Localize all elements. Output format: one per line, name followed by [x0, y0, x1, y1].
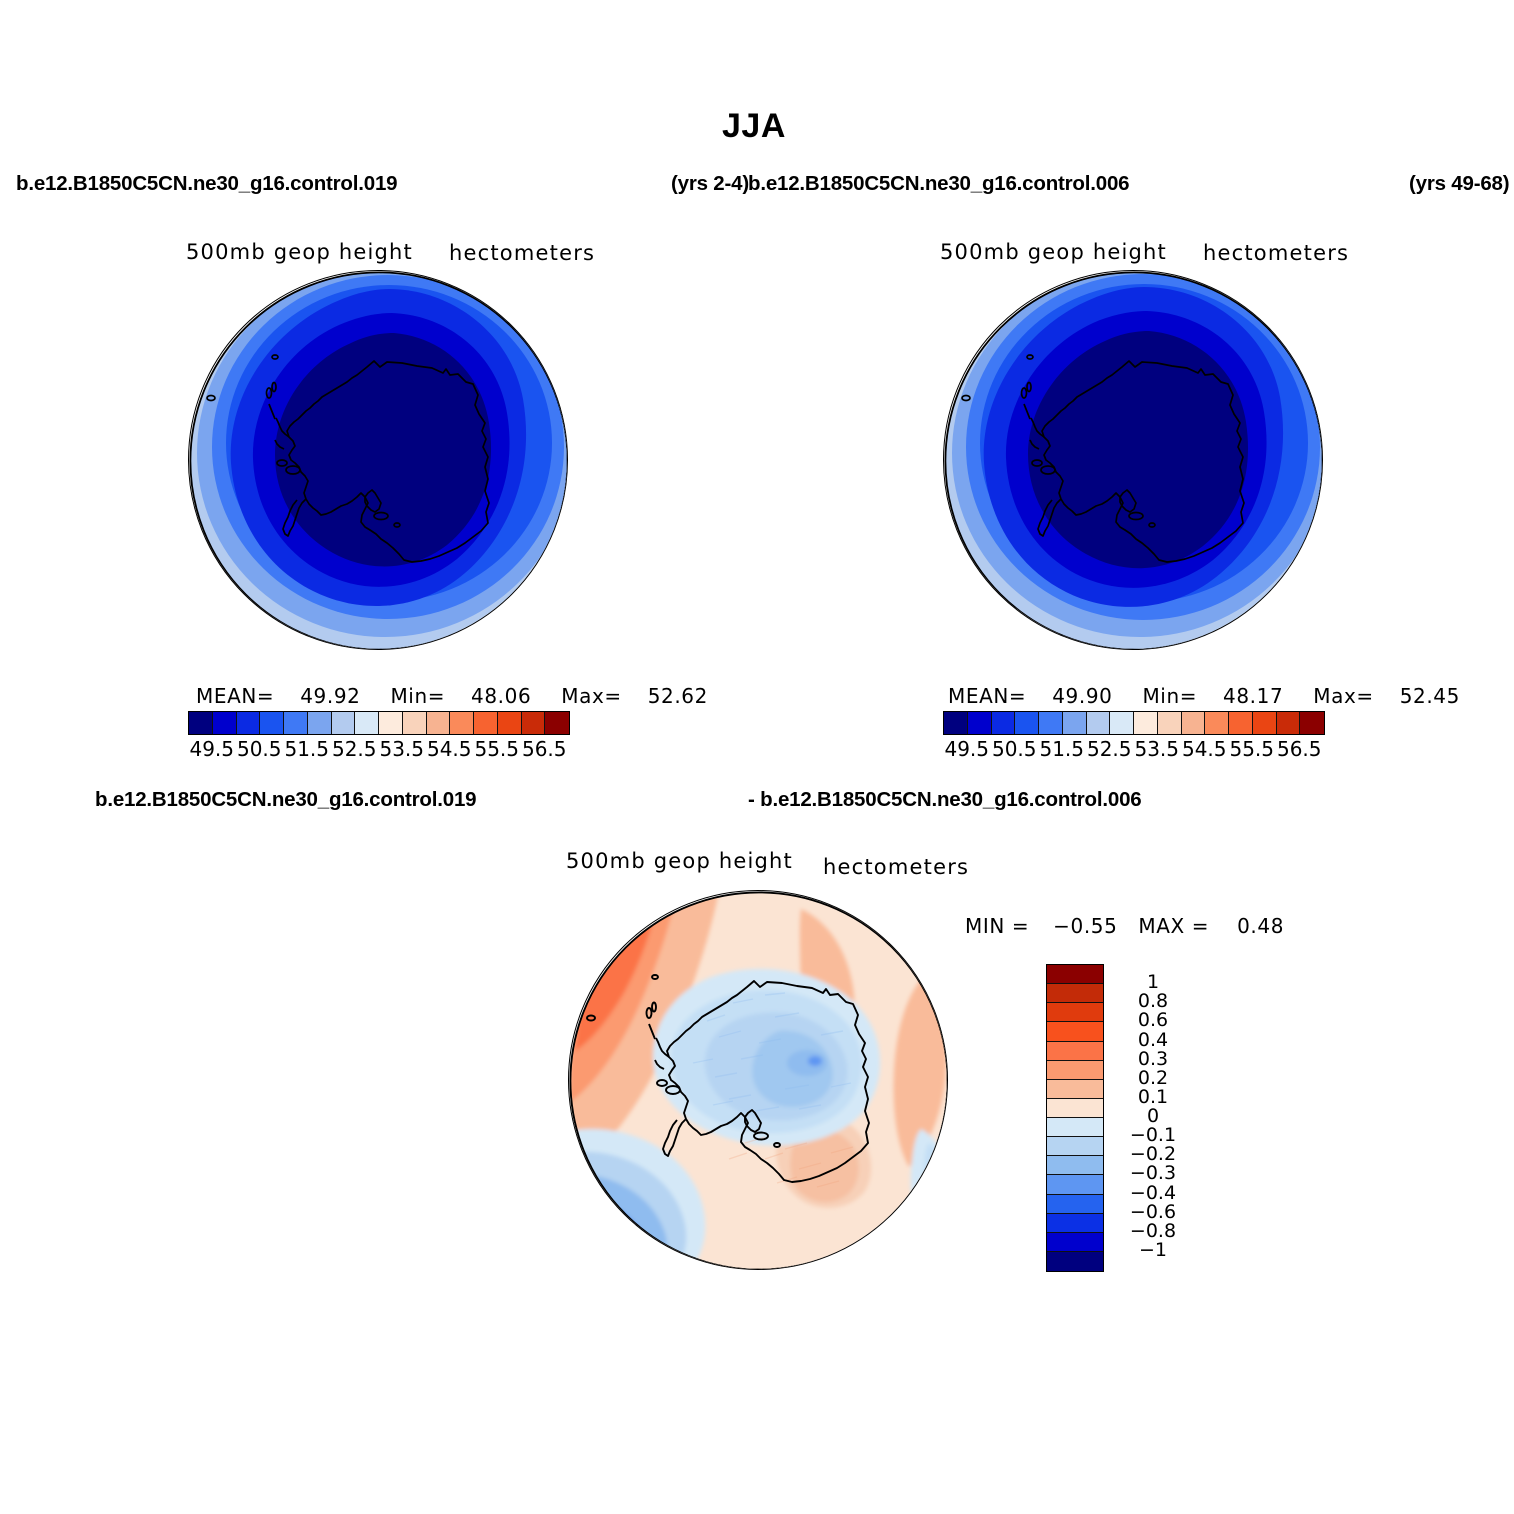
map-left-svg [189, 271, 568, 650]
left-max-value: 52.62 [648, 684, 708, 708]
colorbar-swatch-6 [1087, 712, 1111, 734]
left-max-label: Max= [561, 684, 622, 708]
difference-max-value: 0.48 [1237, 914, 1284, 938]
difference-stats: MIN = −0.55 MAX = 0.48 [965, 914, 1284, 938]
right-max-label: Max= [1313, 684, 1374, 708]
difference-colorbar-swatch-12 [1047, 1195, 1103, 1214]
colorbar-swatch-9 [403, 712, 427, 734]
left-mean-value: 49.92 [300, 684, 360, 708]
difference-colorbar-swatch-2 [1047, 1003, 1103, 1022]
right-mean-label: MEAN= [948, 684, 1026, 708]
colorbar-swatch-10 [427, 712, 451, 734]
colorbar-swatch-12 [474, 712, 498, 734]
left-panel-variable-label: 500mb geop height [186, 240, 413, 264]
colorbar-swatch-8 [1134, 712, 1158, 734]
left-panel-case-name: b.e12.B1850C5CN.ne30_g16.control.019 [16, 172, 397, 196]
colorbar-tick-7: 56.5 [514, 737, 574, 761]
colorbar-swatch-2 [237, 712, 261, 734]
colorbar-swatch-7 [1110, 712, 1134, 734]
left-panel-colorbar[interactable] [188, 711, 570, 735]
difference-colorbar-tick-14: −1 [1118, 1239, 1188, 1261]
left-min-label: Min= [390, 684, 445, 708]
left-panel-years: (yrs 2-4) [671, 172, 749, 196]
figure-season-title: JJA [722, 107, 786, 146]
colorbar-swatch-9 [1158, 712, 1182, 734]
colorbar-swatch-1 [968, 712, 992, 734]
right-min-label: Min= [1142, 684, 1197, 708]
difference-colorbar-swatch-9 [1047, 1137, 1103, 1156]
left-min-value: 48.06 [471, 684, 531, 708]
difference-min-value: −0.55 [1053, 914, 1117, 938]
colorbar-swatch-3 [260, 712, 284, 734]
difference-units-label: hectometers [823, 855, 969, 879]
difference-colorbar-swatch-10 [1047, 1156, 1103, 1175]
colorbar-swatch-3 [1015, 712, 1039, 734]
right-panel-stats: MEAN= 49.90 Min= 48.17 Max= 52.45 [948, 684, 1460, 708]
left-mean-label: MEAN= [196, 684, 274, 708]
colorbar-swatch-15 [545, 712, 569, 734]
difference-colorbar-swatch-13 [1047, 1214, 1103, 1233]
colorbar-swatch-13 [498, 712, 522, 734]
map-right-svg [944, 271, 1323, 650]
right-mean-value: 49.90 [1052, 684, 1112, 708]
difference-colorbar-swatch-4 [1047, 1042, 1103, 1061]
colorbar-swatch-6 [332, 712, 356, 734]
right-panel-variable-label: 500mb geop height [940, 240, 1167, 264]
map-left-control019[interactable] [188, 270, 568, 650]
colorbar-swatch-0 [944, 712, 968, 734]
left-panel-stats: MEAN= 49.92 Min= 48.06 Max= 52.62 [196, 684, 708, 708]
colorbar-swatch-5 [1063, 712, 1087, 734]
left-panel-units-label: hectometers [449, 241, 595, 265]
difference-colorbar-swatch-3 [1047, 1022, 1103, 1041]
colorbar-swatch-0 [189, 712, 213, 734]
difference-colorbar[interactable] [1046, 964, 1104, 1272]
colorbar-swatch-4 [284, 712, 308, 734]
colorbar-swatch-15 [1300, 712, 1324, 734]
right-max-value: 52.45 [1400, 684, 1460, 708]
difference-colorbar-swatch-6 [1047, 1080, 1103, 1099]
right-panel-colorbar[interactable] [943, 711, 1325, 735]
colorbar-swatch-14 [522, 712, 546, 734]
colorbar-swatch-2 [992, 712, 1016, 734]
difference-colorbar-swatch-1 [1047, 984, 1103, 1003]
difference-colorbar-swatch-14 [1047, 1233, 1103, 1252]
colorbar-swatch-5 [308, 712, 332, 734]
colorbar-swatch-12 [1229, 712, 1253, 734]
colorbar-swatch-8 [379, 712, 403, 734]
colorbar-swatch-11 [450, 712, 474, 734]
right-panel-years: (yrs 49-68) [1409, 172, 1509, 196]
map-difference-svg [569, 891, 948, 1270]
difference-colorbar-swatch-7 [1047, 1099, 1103, 1118]
difference-minus-case-b: - b.e12.B1850C5CN.ne30_g16.control.006 [748, 788, 1141, 812]
difference-colorbar-swatch-11 [1047, 1175, 1103, 1194]
map-difference[interactable] [568, 890, 948, 1270]
colorbar-swatch-14 [1277, 712, 1301, 734]
colorbar-swatch-10 [1182, 712, 1206, 734]
colorbar-swatch-1 [213, 712, 237, 734]
difference-colorbar-swatch-5 [1047, 1061, 1103, 1080]
difference-colorbar-swatch-0 [1047, 965, 1103, 984]
colorbar-swatch-4 [1039, 712, 1063, 734]
difference-colorbar-swatch-8 [1047, 1118, 1103, 1137]
difference-colorbar-swatch-15 [1047, 1252, 1103, 1271]
difference-variable-label: 500mb geop height [566, 849, 793, 873]
colorbar-swatch-13 [1253, 712, 1277, 734]
colorbar-swatch-11 [1205, 712, 1229, 734]
difference-max-label: MAX = [1138, 914, 1209, 938]
right-panel-case-name: b.e12.B1850C5CN.ne30_g16.control.006 [748, 172, 1129, 196]
right-panel-units-label: hectometers [1203, 241, 1349, 265]
map-right-control006[interactable] [943, 270, 1323, 650]
right-min-value: 48.17 [1223, 684, 1283, 708]
difference-min-label: MIN = [965, 914, 1029, 938]
colorbar-tick-7: 56.5 [1269, 737, 1329, 761]
colorbar-swatch-7 [355, 712, 379, 734]
difference-case-a: b.e12.B1850C5CN.ne30_g16.control.019 [95, 788, 476, 812]
